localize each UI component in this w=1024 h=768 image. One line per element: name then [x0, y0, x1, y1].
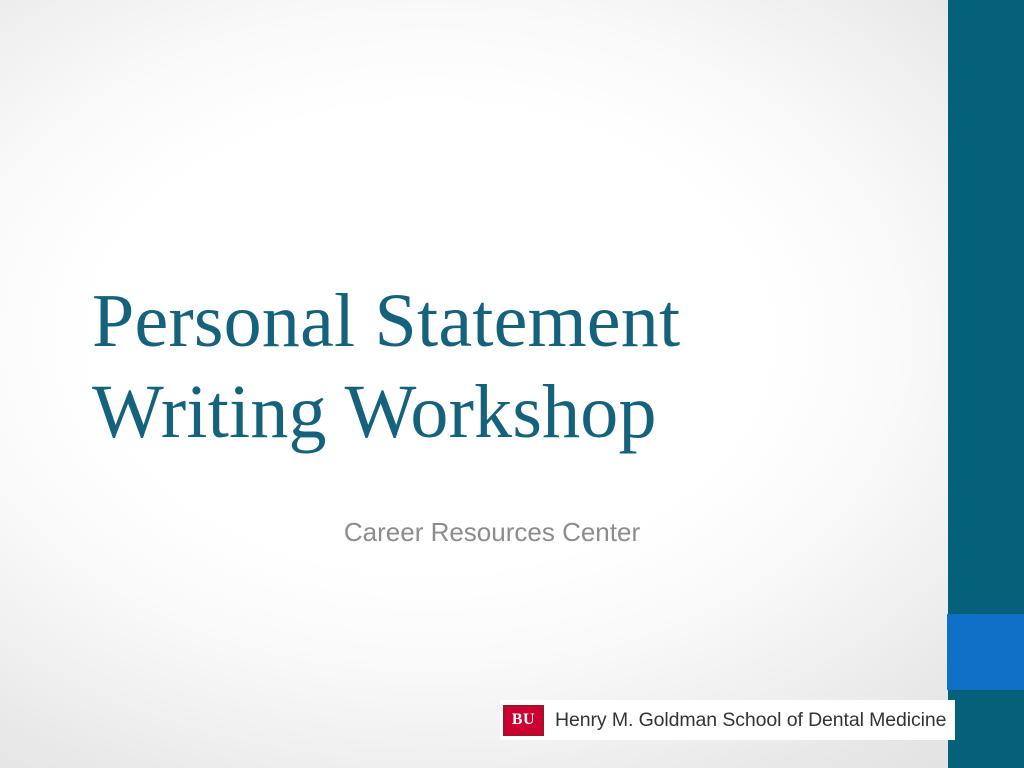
school-name-wordmark: Henry M. Goldman School of Dental Medici…: [555, 709, 946, 732]
presentation-slide: Personal Statement Writing Workshop Care…: [0, 0, 1024, 768]
slide-subtitle: Career Resources Center: [92, 516, 892, 549]
bu-shield-icon: BU: [503, 705, 544, 736]
title-placeholder[interactable]: Personal Statement Writing Workshop: [92, 276, 892, 458]
institution-logo-lockup: BU Henry M. Goldman School of Dental Med…: [500, 700, 955, 740]
decorative-blue-accent-block: [947, 614, 1024, 690]
slide-title: Personal Statement Writing Workshop: [92, 276, 892, 458]
subtitle-placeholder[interactable]: Career Resources Center: [92, 516, 892, 549]
bu-monogram-text: BU: [505, 707, 542, 734]
